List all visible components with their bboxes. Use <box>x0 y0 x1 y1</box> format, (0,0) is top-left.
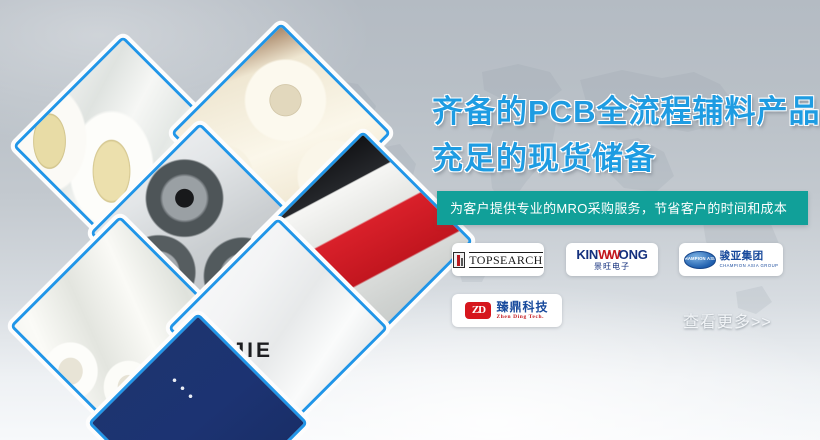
kinwong-logo-text: KINWWONG <box>576 248 647 261</box>
view-more-link[interactable]: 查看更多>> <box>683 315 772 331</box>
topsearch-logo-text: TOPSEARCH <box>469 252 542 268</box>
topsearch-mark-icon <box>453 252 465 268</box>
client-logo-kinwong[interactable]: KINWWONG 景旺电子 <box>566 243 658 276</box>
headline-line-2: 充足的现货储备 <box>432 135 812 182</box>
hero-banner: 齐备的PCB全流程辅料产品、 充足的现货储备 为客户提供专业的MRO采购服务，节… <box>0 0 820 440</box>
subtitle-bar: 为客户提供专业的MRO采购服务，节省客户的时间和成本 <box>437 191 808 225</box>
headline: 齐备的PCB全流程辅料产品、 充足的现货储备 <box>432 88 812 182</box>
client-logo-champion-asia[interactable]: CHAMPION ASIA 骏亚集团 CHAMPION ASIA GROUP <box>679 243 783 276</box>
client-logo-zhen-ding[interactable]: ZD 臻鼎科技 Zhen Ding Tech. <box>452 294 562 327</box>
subtitle-text: 为客户提供专业的MRO采购服务，节省客户的时间和成本 <box>437 202 787 215</box>
globe-icon: CHAMPION ASIA <box>684 251 716 269</box>
kinwong-logo-text-cn: 景旺电子 <box>594 263 630 271</box>
zhending-logo-text-en: Zhen Ding Tech. <box>496 315 548 321</box>
champion-asia-logo-text-en: CHAMPION ASIA GROUP <box>720 264 779 268</box>
zhending-logo-text-cn: 臻鼎科技 <box>496 301 548 313</box>
zhending-mark-icon: ZD <box>465 302 491 319</box>
headline-line-1: 齐备的PCB全流程辅料产品、 <box>432 88 812 135</box>
client-logo-topsearch[interactable]: TOPSEARCH <box>452 243 544 276</box>
product-collage <box>0 0 420 440</box>
champion-asia-logo-text-cn: 骏亚集团 <box>720 251 779 262</box>
